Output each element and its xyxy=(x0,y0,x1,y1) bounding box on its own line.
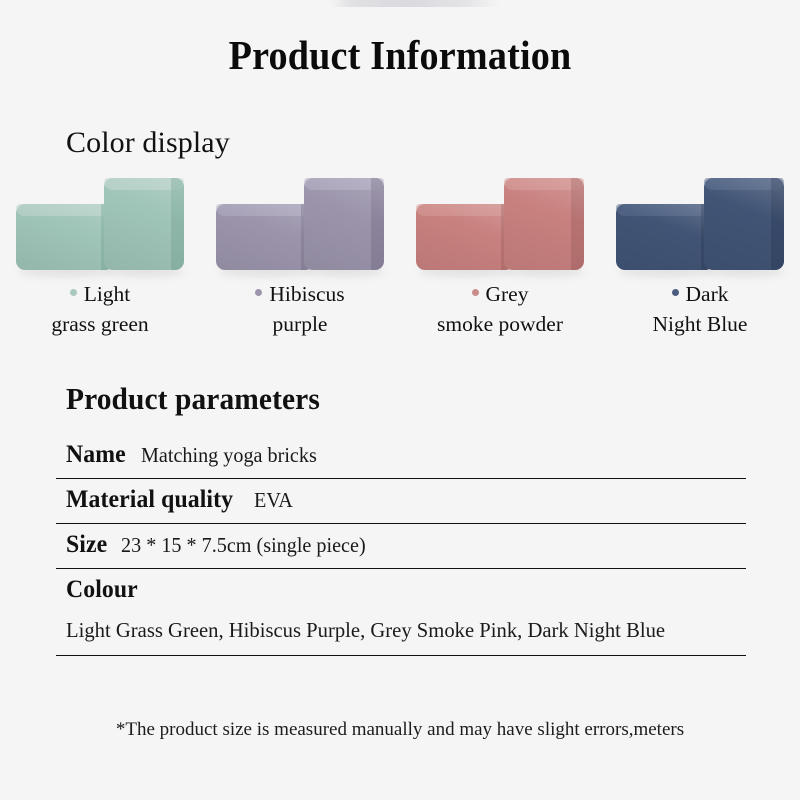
param-value: EVA xyxy=(254,488,293,513)
color-dot-icon xyxy=(70,289,77,296)
swatch-label-line1: Dark xyxy=(686,282,729,306)
yoga-brick-pair xyxy=(400,168,600,276)
param-label: Colour xyxy=(66,576,138,604)
yoga-brick-back xyxy=(704,178,784,270)
color-swatch-3[interactable]: Greysmoke powder xyxy=(400,168,600,353)
swatch-label: Greysmoke powder xyxy=(400,280,600,339)
param-value: 23 * 15 * 7.5cm (single piece) xyxy=(121,533,366,558)
color-dot-icon xyxy=(255,289,262,296)
swatch-label-line2: grass green xyxy=(51,312,148,336)
yoga-brick-back xyxy=(504,178,584,270)
page-title: Product Information xyxy=(28,31,772,79)
swatch-label-line2: purple xyxy=(273,312,328,336)
param-label: Size xyxy=(66,531,107,559)
param-row: Size23 * 15 * 7.5cm (single piece) xyxy=(56,524,746,569)
product-parameters-table: NameMatching yoga bricksMaterial quality… xyxy=(56,434,746,656)
swatch-label: DarkNight Blue xyxy=(600,280,800,339)
swatch-label-line1: Grey xyxy=(486,282,529,306)
swatch-label-line2: Night Blue xyxy=(653,312,748,336)
color-dot-icon xyxy=(672,289,679,296)
param-row: ColourLight Grass Green, Hibiscus Purple… xyxy=(56,569,746,656)
yoga-brick-pair xyxy=(600,168,800,276)
yoga-brick-front xyxy=(16,204,114,270)
swatch-label-line2: smoke powder xyxy=(437,312,563,336)
param-value: Light Grass Green, Hibiscus Purple, Grey… xyxy=(66,618,717,643)
color-swatch-1[interactable]: Lightgrass green xyxy=(0,168,200,353)
yoga-brick-back xyxy=(304,178,384,270)
swatch-label: Hibiscuspurple xyxy=(200,280,400,339)
param-label: Material quality xyxy=(66,486,233,514)
param-row: Material qualityEVA xyxy=(56,479,746,524)
color-display-heading: Color display xyxy=(66,126,230,160)
yoga-brick-front xyxy=(616,204,714,270)
color-swatch-4[interactable]: DarkNight Blue xyxy=(600,168,800,353)
param-value: Matching yoga bricks xyxy=(141,443,317,468)
yoga-brick-front xyxy=(416,204,514,270)
swatch-label-line1: Hibiscus xyxy=(269,282,344,306)
cropped-banner-sliver xyxy=(330,0,500,7)
yoga-brick-pair xyxy=(0,168,200,276)
color-swatch-2[interactable]: Hibiscuspurple xyxy=(200,168,400,353)
yoga-brick-front xyxy=(216,204,314,270)
color-dot-icon xyxy=(472,289,479,296)
swatch-label-line1: Light xyxy=(84,282,131,306)
swatch-label: Lightgrass green xyxy=(0,280,200,339)
size-disclaimer-footnote: *The product size is measured manually a… xyxy=(0,719,800,741)
param-row: NameMatching yoga bricks xyxy=(56,434,746,479)
param-label: Name xyxy=(66,441,126,469)
color-swatch-row: Lightgrass greenHibiscuspurpleGreysmoke … xyxy=(0,168,800,353)
yoga-brick-pair xyxy=(200,168,400,276)
product-parameters-heading: Product parameters xyxy=(66,381,320,417)
yoga-brick-back xyxy=(104,178,184,270)
